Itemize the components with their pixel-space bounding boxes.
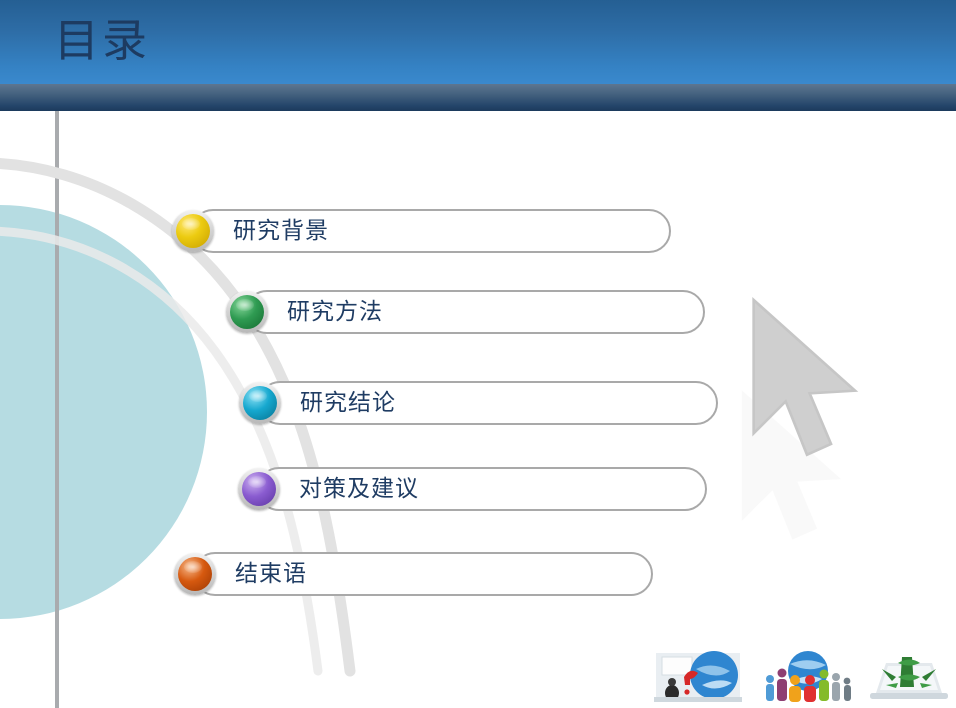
page-title: 目录: [54, 10, 150, 72]
agenda-item-2[interactable]: 研究方法: [245, 290, 705, 334]
agenda-item-5[interactable]: 结束语: [193, 552, 653, 596]
bullet-cyan-icon: [239, 382, 281, 424]
agenda-label-5: 结束语: [235, 552, 307, 596]
agenda-item-1[interactable]: 研究背景: [191, 209, 671, 253]
bullet-gold-icon: [172, 210, 214, 252]
agenda-item-4[interactable]: 对策及建议: [257, 467, 707, 511]
bottom-image-businessman-globe: [648, 647, 748, 705]
bullet-green-icon: [226, 291, 268, 333]
bottom-image-dollar-laptop: [862, 647, 956, 705]
header-underband: [0, 84, 956, 111]
agenda-item-3[interactable]: 研究结论: [258, 381, 718, 425]
agenda-label-3: 研究结论: [300, 381, 396, 425]
agenda-label-2: 研究方法: [287, 290, 383, 334]
bullet-purple-icon: [238, 468, 280, 510]
bottom-image-people-globe: [758, 647, 858, 705]
bullet-orange-icon: [174, 553, 216, 595]
agenda-label-4: 对策及建议: [299, 467, 419, 511]
slide-canvas: 目录 研究背景 研究方法 研究结论: [0, 0, 956, 708]
agenda-label-1: 研究背景: [233, 209, 329, 253]
